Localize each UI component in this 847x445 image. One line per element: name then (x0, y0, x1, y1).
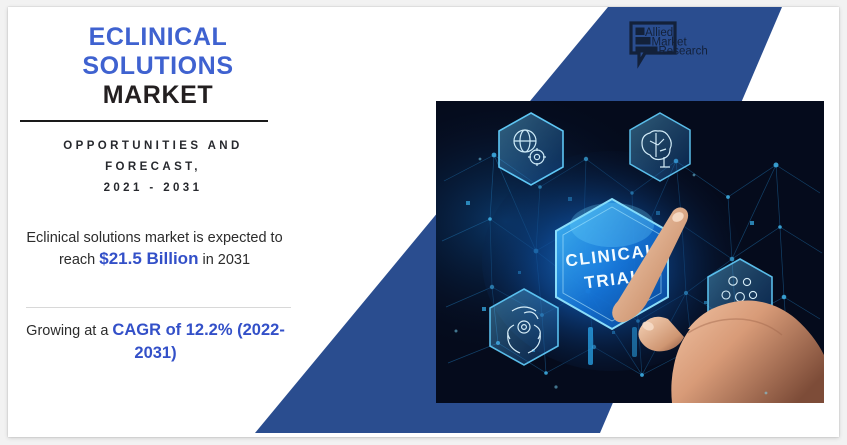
title-line-3: MARKET (8, 81, 308, 110)
left-text-panel: ECLINICAL SOLUTIONS MARKET OPPORTUNITIES… (8, 7, 308, 437)
market-value-statement: Eclinical solutions market is expected t… (8, 229, 301, 270)
clinical-trial-photo-artwork: CLINICAL TRIAL (436, 101, 824, 403)
title-line-1: ECLINICAL (8, 23, 308, 52)
title-divider (20, 120, 268, 122)
subtitle-line-3: 2021 - 2031 (8, 178, 298, 199)
cagr-figure: CAGR of 12.2% (2022-2031) (112, 321, 284, 362)
infographic-root: ECLINICAL SOLUTIONS MARKET OPPORTUNITIES… (0, 0, 847, 445)
page-title: ECLINICAL SOLUTIONS MARKET (8, 23, 308, 110)
subtitle-line-1: OPPORTUNITIES AND (8, 136, 298, 157)
allied-market-research-logo-icon: Allied Market Research (629, 21, 721, 71)
title-line-2: SOLUTIONS (8, 52, 308, 81)
stat-divider (26, 307, 291, 308)
cagr-prefix: Growing at a (26, 323, 112, 339)
clinical-trial-photo: CLINICAL TRIAL (436, 101, 824, 403)
market-value-figure: $21.5 Billion (99, 249, 198, 268)
subtitle-block: OPPORTUNITIES AND FORECAST, 2021 - 2031 (8, 136, 298, 199)
infographic-card: ECLINICAL SOLUTIONS MARKET OPPORTUNITIES… (8, 7, 839, 437)
market-value-suffix: in 2031 (198, 252, 250, 268)
logo-text-line-3: Research (659, 46, 708, 58)
cagr-statement: Growing at a CAGR of 12.2% (2022-2031) (8, 319, 303, 365)
subtitle-line-2: FORECAST, (8, 157, 298, 178)
